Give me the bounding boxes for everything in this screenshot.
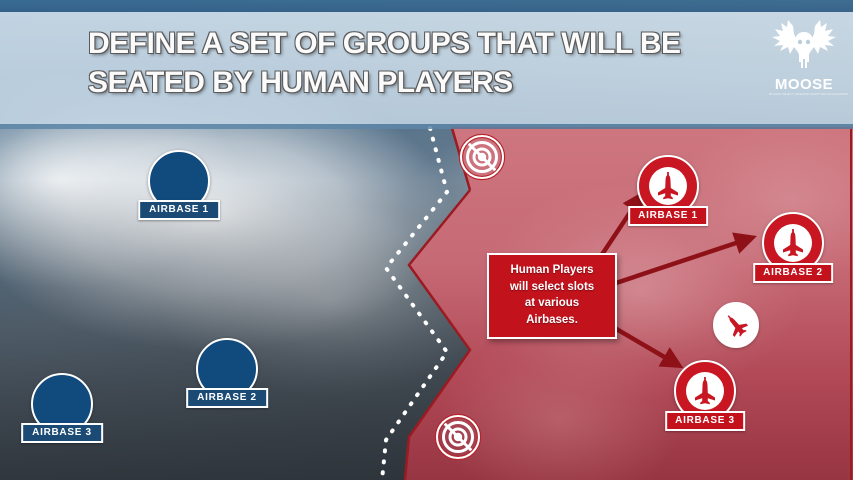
callout-line-3: at various (495, 295, 609, 312)
callout-box: Human Players will select slots at vario… (487, 253, 617, 339)
blue-airbase-2-label: AIRBASE 2 (186, 388, 268, 408)
red-airbase-inner-disc (774, 224, 812, 262)
callout-line-1: Human Players (495, 262, 609, 279)
slide-canvas: DEFINE A SET OF GROUPS THAT WILL BE SEAT… (0, 0, 853, 480)
moose-logo: MOOSE MISSION OBJECT ORIENTED SCRIPTING … (769, 18, 839, 106)
blue-airbase-3-label: AIRBASE 3 (21, 423, 103, 443)
moose-subtitle: MISSION OBJECT ORIENTED SCRIPTING ENVIRO… (769, 94, 839, 97)
red-airbase-inner-disc (686, 372, 724, 410)
red-airbase-1[interactable]: AIRBASE 1 (637, 155, 699, 217)
page-title: DEFINE A SET OF GROUPS THAT WILL BE SEAT… (88, 24, 748, 102)
red-airbase-3[interactable]: AIRBASE 3 (674, 360, 736, 422)
red-airbase-1-label: AIRBASE 1 (628, 206, 708, 226)
page-title-line-1: DEFINE A SET OF GROUPS THAT WILL BE (88, 24, 748, 63)
fighter-jet-icon (690, 376, 720, 406)
red-airbase-inner-disc (649, 167, 687, 205)
callout-line-2: will select slots (495, 279, 609, 296)
red-radar-south[interactable] (434, 413, 482, 466)
fighter-jet-icon (653, 171, 683, 201)
red-airbase-3-label: AIRBASE 3 (665, 411, 745, 431)
red-airbase-2-label: AIRBASE 2 (753, 263, 833, 283)
blue-airbase-1-label: AIRBASE 1 (138, 200, 220, 220)
callout-line-4: Airbases. (495, 312, 609, 329)
red-airbase-2[interactable]: AIRBASE 2 (762, 212, 824, 274)
header-top-strip (0, 0, 853, 12)
red-flying-jet[interactable] (713, 302, 759, 348)
red-radar-north[interactable] (458, 133, 506, 186)
moose-wordmark: MOOSE (769, 77, 839, 92)
blue-airbase-1[interactable]: AIRBASE 1 (148, 150, 210, 212)
blue-airbase-2[interactable]: AIRBASE 2 (196, 338, 258, 400)
page-title-line-2: SEATED BY HUMAN PLAYERS (88, 63, 748, 102)
blue-airbase-3[interactable]: AIRBASE 3 (31, 373, 93, 435)
fighter-jet-icon (778, 228, 808, 258)
flying-jet-icon (722, 311, 750, 339)
header-bottom-strip (0, 124, 853, 129)
moose-antlers-icon (771, 18, 837, 76)
radar-target-icon (458, 133, 506, 181)
radar-target-icon (434, 413, 482, 461)
